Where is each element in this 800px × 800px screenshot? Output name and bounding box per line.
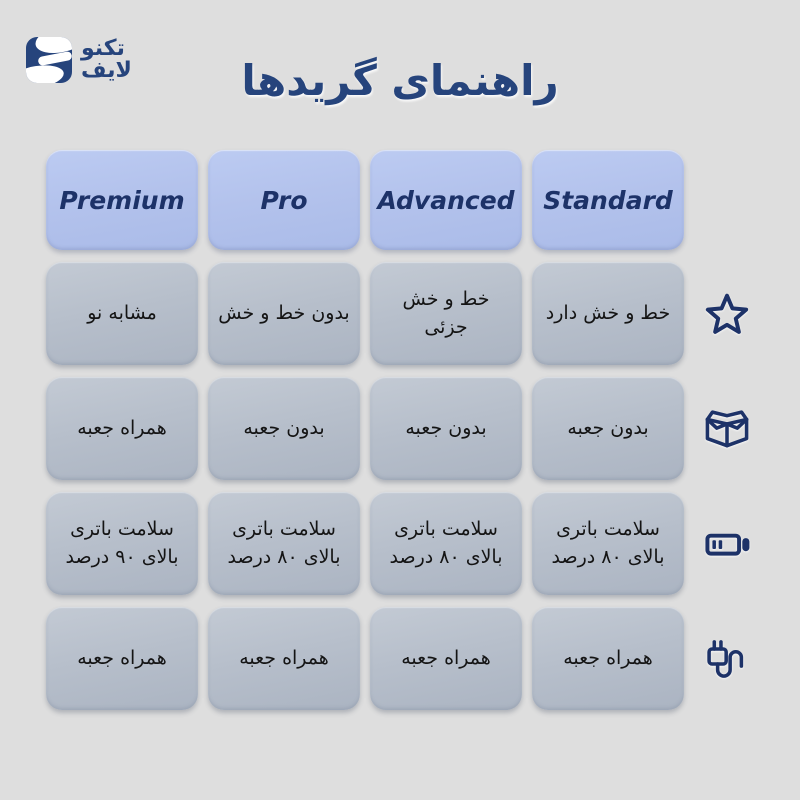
cell-box-standard: بدون جعبه [532, 377, 684, 480]
column-header-premium[interactable]: Premium [46, 150, 198, 250]
battery-icon [699, 516, 755, 572]
power-plug-icon [699, 631, 755, 687]
cell-charger-premium: همراه جعبه [46, 607, 198, 710]
cell-battery-advanced: سلامت باتری بالای ۸۰ درصد [370, 492, 522, 595]
cell-condition-premium: مشابه نو [46, 262, 198, 365]
cell-charger-advanced: همراه جعبه [370, 607, 522, 710]
cell-box-premium: همراه جعبه [46, 377, 198, 480]
cell-battery-standard: سلامت باتری بالای ۸۰ درصد [532, 492, 684, 595]
column-header-standard[interactable]: Standard [532, 150, 684, 250]
table-row: همراه جعبه همراه جعبه همراه جعبه همراه ج… [44, 607, 684, 710]
table-row: خط و خش دارد خط و خش جزئی بدون خط و خش م… [44, 262, 684, 365]
cell-battery-premium: سلامت باتری بالای ۹۰ درصد [46, 492, 198, 595]
cell-condition-advanced: خط و خش جزئی [370, 262, 522, 365]
grade-comparison-table: Standard Advanced Pro Premium خط و خش دا… [44, 150, 684, 722]
cell-box-advanced: بدون جعبه [370, 377, 522, 480]
cell-charger-standard: همراه جعبه [532, 607, 684, 710]
page-title: راهنمای گریدها [0, 56, 800, 105]
column-header-advanced[interactable]: Advanced [370, 150, 522, 250]
table-row: سلامت باتری بالای ۸۰ درصد سلامت باتری با… [44, 492, 684, 595]
table-row: بدون جعبه بدون جعبه بدون جعبه همراه جعبه [44, 377, 684, 480]
open-box-icon [699, 401, 755, 457]
star-icon [699, 286, 755, 342]
cell-box-pro: بدون جعبه [208, 377, 360, 480]
cell-battery-pro: سلامت باتری بالای ۸۰ درصد [208, 492, 360, 595]
cell-charger-pro: همراه جعبه [208, 607, 360, 710]
column-header-pro[interactable]: Pro [208, 150, 360, 250]
page-header: تکنو لایف راهنمای گریدها [0, 0, 800, 145]
table-header-row: Standard Advanced Pro Premium [44, 150, 684, 250]
cell-condition-standard: خط و خش دارد [532, 262, 684, 365]
cell-condition-pro: بدون خط و خش [208, 262, 360, 365]
